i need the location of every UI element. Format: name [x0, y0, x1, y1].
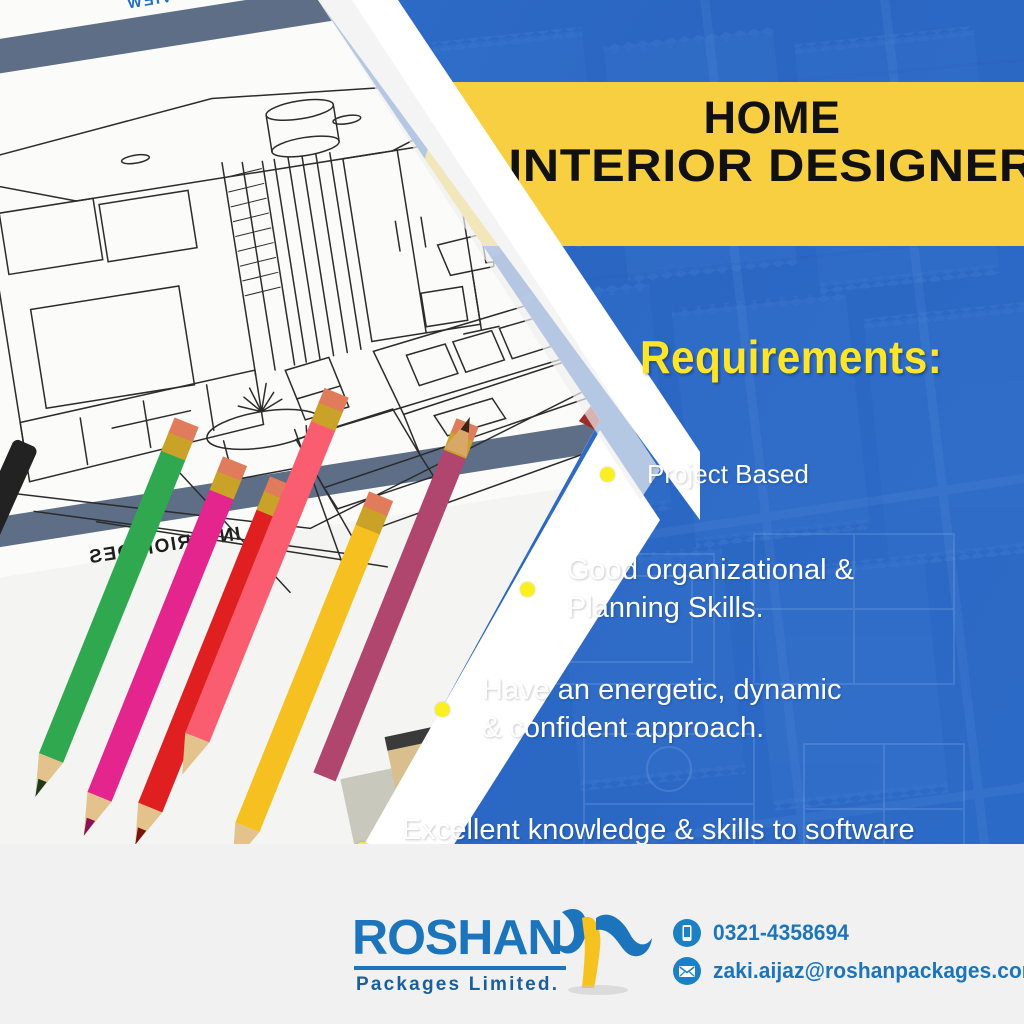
bullet-dot-icon — [520, 582, 535, 597]
logo-tagline: Packages Limited. — [356, 974, 559, 996]
requirements-heading: Requirements: — [640, 330, 942, 384]
logo-underline — [354, 966, 566, 970]
logo-swoosh-icon — [552, 904, 660, 996]
list-item: Have an energetic, dynamic & confident a… — [435, 672, 841, 747]
page-title: HOME INTERIOR DESIGNER — [520, 94, 1024, 189]
title-line-1: HOME — [520, 94, 1024, 142]
footer-bar: ROSHAN Packages Limited. 0321-4358694 — [0, 844, 1024, 1024]
email-address: zaki.aijaz@roshanpackages.com.pk — [713, 958, 1024, 984]
requirement-text: Have an energetic, dynamic & confident a… — [482, 672, 841, 747]
mobile-phone-icon — [672, 918, 702, 948]
requirement-text: Good organizational & Planning Skills. — [567, 552, 854, 627]
list-item: Good organizational & Planning Skills. — [520, 552, 854, 627]
phone-row[interactable]: 0321-4358694 — [672, 918, 1024, 948]
requirement-text: Project Based — [647, 458, 809, 492]
logo-wordmark: ROSHAN — [352, 910, 562, 966]
email-row[interactable]: zaki.aijaz@roshanpackages.com.pk — [672, 956, 1024, 986]
list-item: Project Based — [600, 458, 809, 492]
phone-number: 0321-4358694 — [713, 920, 849, 946]
contact-block: 0321-4358694 zaki.aijaz@roshanpackages.c… — [672, 918, 1024, 994]
title-line-2: INTERIOR DESIGNER — [490, 142, 1024, 190]
bullet-dot-icon — [600, 467, 615, 482]
company-logo: ROSHAN Packages Limited. — [352, 908, 652, 1000]
envelope-icon — [672, 956, 702, 986]
bullet-dot-icon — [435, 702, 450, 717]
job-advertisement-poster: HOME INTERIOR DESIGNER ROOM PERSPECTIVE … — [0, 0, 1024, 1024]
